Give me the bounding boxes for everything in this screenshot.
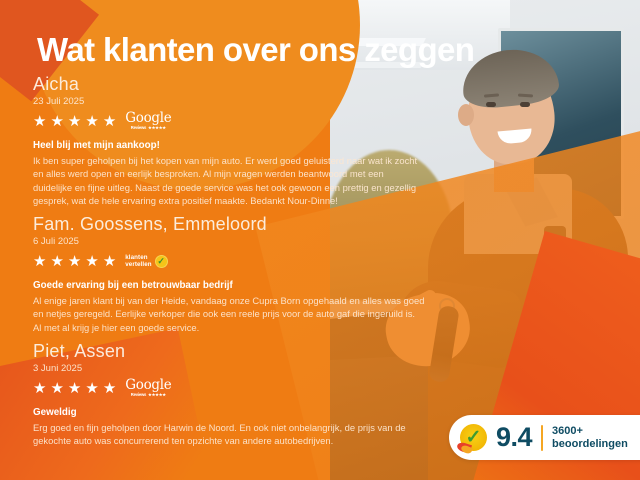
page-title: Wat klanten over ons zeggen	[37, 31, 474, 69]
star-rating: ★ ★ ★ ★ ★	[33, 114, 116, 129]
review-count-label: beoordelingen	[552, 438, 628, 451]
star-icon: ★	[103, 254, 116, 269]
star-icon: ★	[103, 114, 116, 129]
star-icon: ★	[85, 381, 98, 396]
star-icon: ★	[68, 114, 81, 129]
reviewer-name: Aicha	[33, 74, 425, 94]
rating-row: ★ ★ ★ ★ ★ klanten vertellen	[33, 251, 425, 271]
score-caption: 3600+ beoordelingen	[552, 425, 628, 451]
klantenvertellen-check-icon	[460, 424, 487, 451]
review-card: Piet, Assen 3 Juni 2025 ★ ★ ★ ★ ★ Google…	[33, 341, 425, 448]
content-layer: Wat klanten over ons zeggen Aicha 23 Jul…	[0, 0, 640, 480]
review-card: Fam. Goossens, Emmeloord 6 Juli 2025 ★ ★…	[33, 214, 425, 334]
klantenvertellen-line-1: klanten	[125, 254, 151, 261]
review-title: Heel blij met mijn aankoop!	[33, 139, 425, 152]
google-reviews-sublabel-text: Reviews	[131, 126, 146, 130]
star-icon: ★	[50, 381, 63, 396]
google-reviews-sublabel-text: Reviews	[131, 393, 146, 397]
star-icon: ★	[68, 254, 81, 269]
review-title: Geweldig	[33, 406, 425, 419]
score-value: 9.4	[496, 424, 532, 451]
review-body: Ik ben super geholpen bij het kopen van …	[33, 154, 425, 208]
google-reviews-logo: Google Reviews ★★★★★	[125, 379, 171, 398]
google-wordmark: Google	[125, 112, 171, 126]
reviewer-name: Fam. Goossens, Emmeloord	[33, 214, 425, 234]
google-wordmark: Google	[125, 379, 171, 393]
review-body: Al enige jaren klant bij van der Heide, …	[33, 294, 425, 334]
star-icon: ★	[50, 114, 63, 129]
star-icon: ★	[50, 254, 63, 269]
rating-row: ★ ★ ★ ★ ★ Google Reviews ★★★★★	[33, 378, 425, 398]
klantenvertellen-logo: klanten vertellen	[125, 254, 167, 268]
google-reviews-stars-icon: ★★★★★	[148, 393, 166, 397]
star-icon: ★	[33, 254, 46, 269]
star-icon: ★	[103, 381, 116, 396]
star-icon: ★	[33, 381, 46, 396]
rating-row: ★ ★ ★ ★ ★ Google Reviews ★★★★★	[33, 111, 425, 131]
klantenvertellen-wordmark: klanten vertellen	[125, 254, 151, 268]
google-reviews-sublabel: Reviews ★★★★★	[131, 393, 166, 397]
klantenvertellen-line-2: vertellen	[125, 261, 151, 268]
score-divider	[541, 425, 543, 451]
star-rating: ★ ★ ★ ★ ★	[33, 381, 116, 396]
star-icon: ★	[85, 114, 98, 129]
review-date: 23 Juli 2025	[33, 95, 425, 108]
star-icon: ★	[68, 381, 81, 396]
review-count: 3600+	[552, 425, 628, 438]
review-card: Aicha 23 Juli 2025 ★ ★ ★ ★ ★ Google Revi…	[33, 74, 425, 208]
review-body: Erg goed en fijn geholpen door Harwin de…	[33, 421, 425, 448]
reviewer-name: Piet, Assen	[33, 341, 425, 361]
review-title: Goede ervaring bij een betrouwbaar bedri…	[33, 279, 425, 292]
star-icon: ★	[85, 254, 98, 269]
score-badge[interactable]: 9.4 3600+ beoordelingen	[449, 415, 640, 460]
star-rating: ★ ★ ★ ★ ★	[33, 254, 116, 269]
google-reviews-sublabel: Reviews ★★★★★	[131, 126, 166, 130]
klantenvertellen-check-icon	[155, 255, 168, 268]
star-icon: ★	[33, 114, 46, 129]
review-date: 6 Juli 2025	[33, 235, 425, 248]
review-date: 3 Juni 2025	[33, 362, 425, 375]
google-reviews-stars-icon: ★★★★★	[148, 126, 166, 130]
google-reviews-logo: Google Reviews ★★★★★	[125, 112, 171, 131]
